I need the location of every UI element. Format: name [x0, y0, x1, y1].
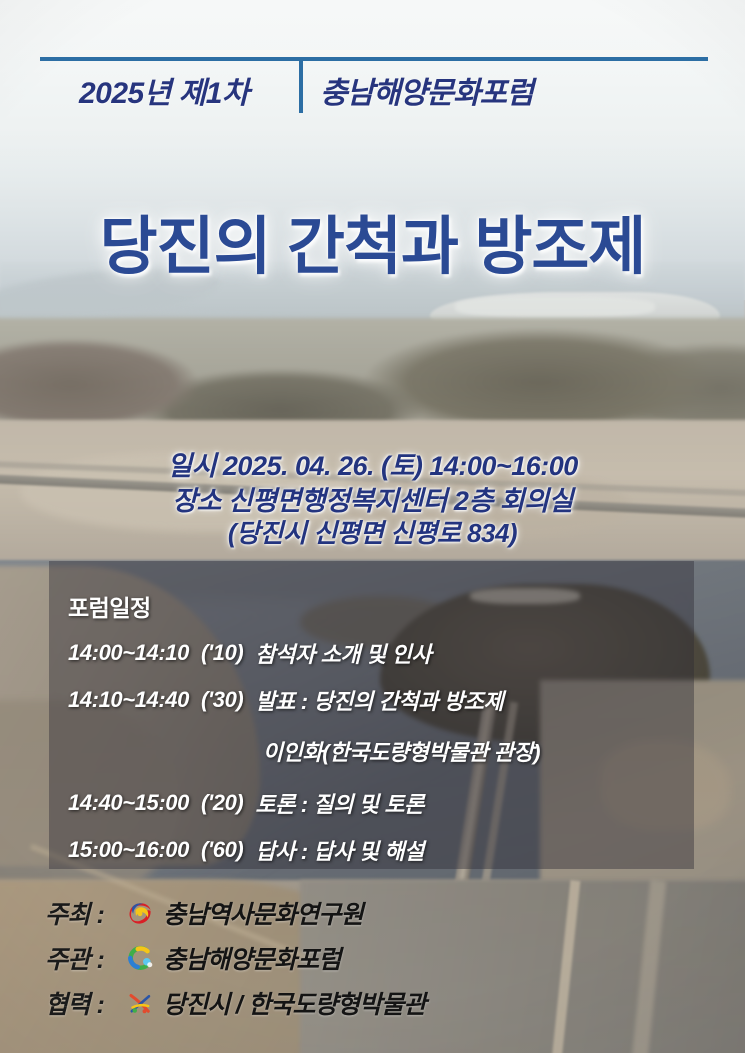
schedule-row: 14:40~15:00('20)토론 : 질의 및 토론: [49, 779, 694, 826]
event-meta: 일시 2025. 04. 26. (토) 14:00~16:00 장소 신평면행…: [0, 448, 745, 548]
schedule-duration: ('20): [201, 790, 243, 816]
schedule-time: 15:00~16:00: [68, 837, 189, 863]
header-forum-name: 충남해양문화포럼: [320, 68, 533, 112]
schedule-item-text: 답사 : 답사 및 해설: [255, 834, 424, 866]
schedule-row: 14:00~14:10('10)참석자 소개 및 인사: [49, 629, 694, 676]
organizer-name: 충남역사문화연구원: [163, 895, 363, 931]
schedule-row: 15:00~16:00('60)답사 : 답사 및 해설: [49, 826, 694, 873]
schedule-speaker-row: 이인화(한국도량형박물관 관장): [49, 723, 694, 779]
poster-title: 당진의 간척과 방조제: [0, 196, 745, 287]
event-poster: 2025년 제1차 충남해양문화포럼 당진의 간척과 방조제 일시 2025. …: [0, 0, 745, 1053]
organizer-row: 협력 :당진시 / 한국도량형박물관: [0, 980, 745, 1025]
event-address: (당진시 신평면 신평로 834): [0, 518, 745, 548]
organizer-name: 충남해양문화포럼: [163, 940, 341, 976]
schedule-time: 14:10~14:40: [68, 687, 189, 713]
schedule-duration: ('60): [201, 837, 243, 863]
schedule-row: 14:10~14:40('30)발표 : 당진의 간척과 방조제: [49, 676, 694, 723]
schedule-item-text: 토론 : 질의 및 토론: [255, 787, 424, 819]
schedule-item-text: 참석자 소개 및 인사: [255, 637, 431, 669]
schedule-list: 14:00~14:10('10)참석자 소개 및 인사14:10~14:40('…: [49, 629, 694, 873]
cnmarine-c-logo: [125, 943, 155, 973]
organizer-role-label: 주최 :: [45, 895, 123, 931]
schedule-time: 14:00~14:10: [68, 640, 189, 666]
organizer-row: 주최 :충남역사문화연구원: [0, 890, 745, 935]
organizer-row: 주관 :충남해양문화포럼: [0, 935, 745, 980]
schedule-time: 14:40~15:00: [68, 790, 189, 816]
organizer-role-label: 주관 :: [45, 940, 123, 976]
header-vertical-divider: [299, 61, 303, 113]
dangjin-city-logo: [125, 988, 155, 1018]
cnhistory-swirl-logo: [125, 898, 155, 928]
schedule-panel: 포럼일정 14:00~14:10('10)참석자 소개 및 인사14:10~14…: [49, 561, 694, 869]
poster-header: 2025년 제1차 충남해양문화포럼: [0, 0, 745, 150]
event-venue: 장소 신평면행정복지센터 2층 회의실: [0, 484, 745, 518]
header-horizontal-rule: [40, 57, 708, 61]
schedule-item-text: 발표 : 당진의 간척과 방조제: [255, 684, 503, 716]
schedule-heading: 포럼일정: [68, 589, 151, 623]
header-edition-label: 2025년 제1차: [40, 68, 288, 112]
schedule-duration: ('10): [201, 640, 243, 666]
organizer-name: 당진시 / 한국도량형박물관: [163, 985, 426, 1021]
organizer-list: 주최 :충남역사문화연구원주관 :충남해양문화포럼협력 :당진시 / 한국도량형…: [0, 890, 745, 1025]
schedule-speaker-name: 이인화(한국도량형박물관 관장): [263, 735, 541, 767]
organizer-role-label: 협력 :: [45, 985, 123, 1021]
schedule-duration: ('30): [201, 687, 243, 713]
event-datetime: 일시 2025. 04. 26. (토) 14:00~16:00: [0, 448, 745, 484]
